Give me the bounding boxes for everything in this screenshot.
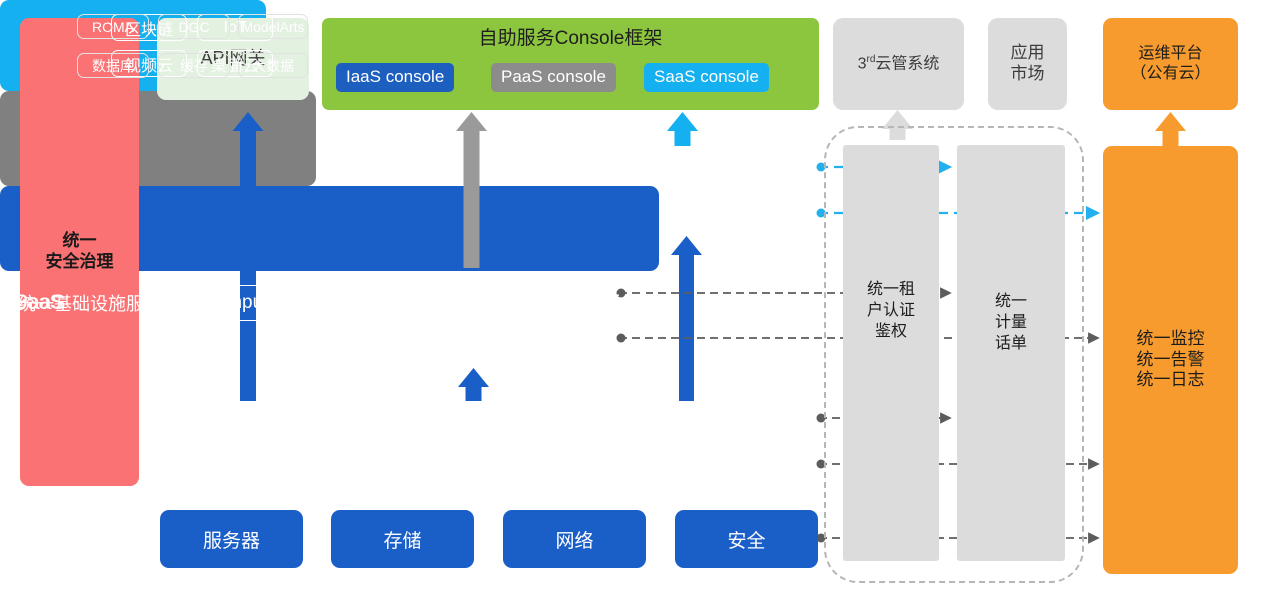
shared-column-auth-label: 统一租户认证鉴权 — [843, 280, 939, 342]
infrastructure-layer-label: 统一基础设施服务 — [18, 290, 162, 316]
paas-chip-roma[interactable]: ROMA — [77, 14, 149, 39]
self-service-console-framework: 自助服务Console框架 IaaS console PaaS console … — [322, 18, 819, 110]
paas-chip-cache[interactable]: 缓存 — [158, 53, 230, 78]
paas-chip-dgc[interactable]: DGC — [158, 14, 230, 39]
third-cloud-main: 云管系统 — [875, 55, 939, 72]
unified-security-governance-panel[interactable]: 统一安全治理 — [20, 18, 139, 486]
saas-console-button[interactable]: SaaS console — [644, 63, 769, 92]
iaas-console-button[interactable]: IaaS console — [336, 63, 454, 92]
arrow-infra-to-paas — [458, 368, 489, 401]
infra-chip-cce[interactable]: CCE — [554, 285, 646, 321]
paas-chip-bigdata[interactable]: 大数据 — [238, 53, 308, 78]
infra-chip-network[interactable]: Network — [428, 285, 544, 321]
infra-chip-compute[interactable]: Compute — [184, 285, 297, 321]
third-cloud-label: 3rd云管系统 — [858, 54, 940, 74]
arrow-into-ops-platform — [1155, 112, 1186, 148]
architecture-diagram: 统一租户认证鉴权 统一计量话单 统一安全治理 API网关 自助服务Console… — [0, 0, 1265, 605]
dot-paas-ops — [617, 334, 626, 343]
shared-column-metering-label: 统一计量话单 — [957, 292, 1065, 354]
resource-box-security[interactable]: 安全 — [675, 510, 818, 568]
ops-platform-public-cloud-box[interactable]: 运维平台（公有云） — [1103, 18, 1238, 110]
paas-console-button[interactable]: PaaS console — [491, 63, 616, 92]
arrow-saas-to-console — [667, 112, 698, 146]
resource-box-storage[interactable]: 存储 — [331, 510, 474, 568]
third-party-cloud-management-box[interactable]: 3rd云管系统 — [833, 18, 964, 110]
console-framework-title: 自助服务Console框架 — [322, 27, 819, 50]
resource-box-network[interactable]: 网络 — [503, 510, 646, 568]
shared-column-auth — [843, 145, 939, 561]
paas-chip-modelarts[interactable]: ModelArts — [238, 14, 308, 39]
paas-chip-database[interactable]: 数据库 — [77, 53, 149, 78]
arrow-infra-to-saas — [671, 236, 702, 401]
app-market-box[interactable]: 应用市场 — [988, 18, 1067, 110]
resource-box-servers[interactable]: 服务器 — [160, 510, 303, 568]
ops-monitoring-alarm-log-panel[interactable]: 统一监控统一告警统一日志 — [1103, 146, 1238, 574]
infra-chip-storage[interactable]: Storage — [308, 285, 418, 321]
